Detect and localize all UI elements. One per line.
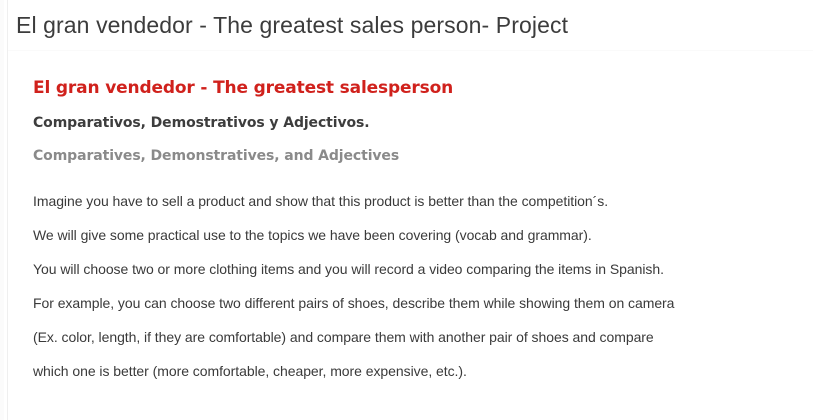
body-line: (Ex. color, length, if they are comforta… xyxy=(33,320,793,354)
title-separator xyxy=(8,50,813,51)
document-content: El gran vendedor - The greatest salesper… xyxy=(33,78,793,388)
left-margin-rule xyxy=(7,0,8,420)
body-paragraph-list: Imagine you have to sell a product and s… xyxy=(33,184,793,388)
left-margin-shade xyxy=(0,0,4,420)
body-line: You will choose two or more clothing ite… xyxy=(33,252,793,286)
page-title: El gran vendedor - The greatest sales pe… xyxy=(16,12,568,39)
document-page: El gran vendedor - The greatest sales pe… xyxy=(0,0,813,420)
body-line: For example, you can choose two differen… xyxy=(33,286,793,320)
content-heading: El gran vendedor - The greatest salesper… xyxy=(33,78,793,98)
body-line: which one is better (more comfortable, c… xyxy=(33,354,793,388)
body-line: Imagine you have to sell a product and s… xyxy=(33,184,793,218)
subheading-english: Comparatives, Demonstratives, and Adject… xyxy=(33,147,793,165)
body-line: We will give some practical use to the t… xyxy=(33,218,793,252)
subheading-spanish: Comparativos, Demostrativos y Adjectivos… xyxy=(33,114,793,132)
